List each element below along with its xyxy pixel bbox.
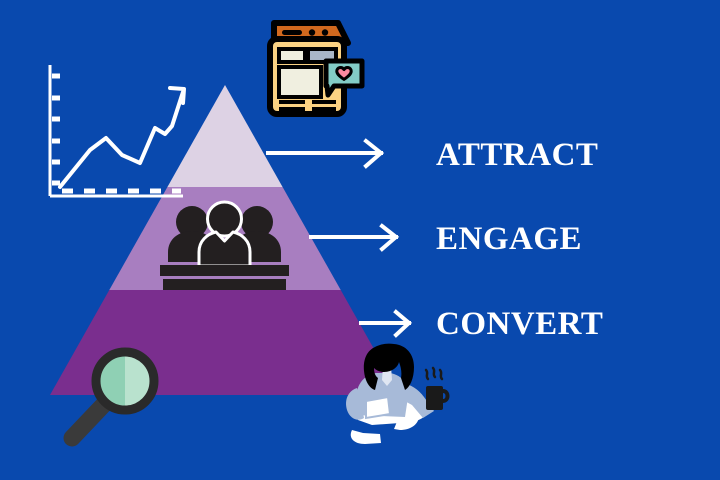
- arrow-attract: [268, 141, 381, 166]
- stage-label-attract: ATTRACT: [436, 139, 598, 172]
- stage-label-engage: ENGAGE: [436, 223, 582, 256]
- arrow-convert: [361, 312, 409, 335]
- stage-label-convert: CONVERT: [436, 308, 603, 341]
- arrow-engage: [311, 226, 396, 249]
- stage-arrows: [0, 0, 720, 480]
- infographic-canvas: ATTRACT ENGAGE CONVERT: [0, 0, 720, 480]
